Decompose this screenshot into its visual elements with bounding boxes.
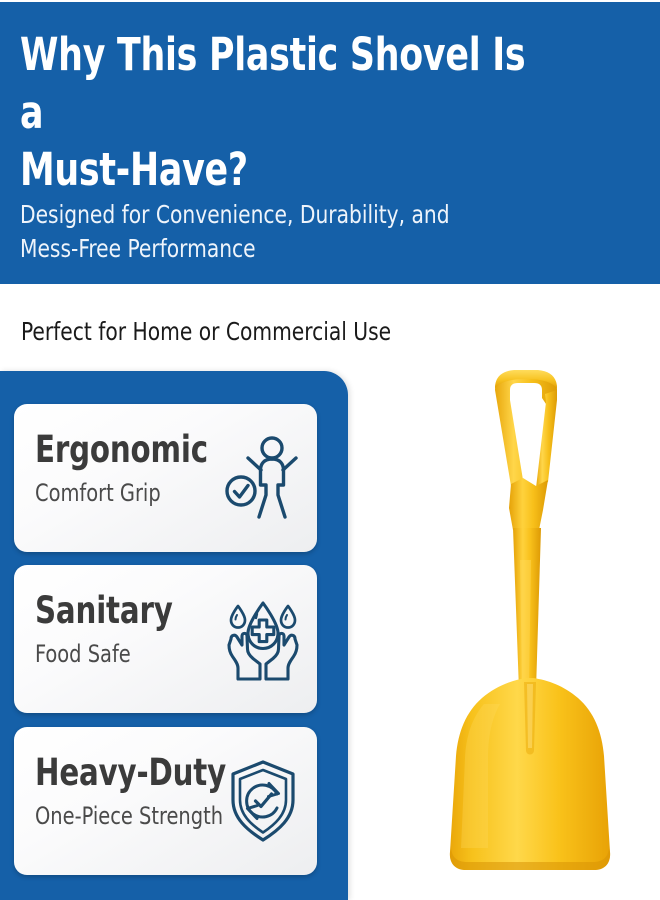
- feature-card-text: Sanitary Food Safe: [35, 592, 220, 666]
- feature-card-sanitary[interactable]: Sanitary Food Safe: [14, 565, 317, 713]
- feature-card-subtitle: One-Piece Strength: [35, 804, 202, 828]
- feature-panel: Ergonomic Comfort Grip Sanitary Food: [0, 371, 348, 900]
- product-image-shovel: [400, 360, 660, 885]
- header-banner: Why This Plastic Shovel Is a Must-Have? …: [0, 2, 660, 284]
- person-check-icon: [223, 433, 303, 523]
- shield-refresh-check-icon: [223, 756, 303, 846]
- feature-card-subtitle: Food Safe: [35, 642, 202, 666]
- page-title: Why This Plastic Shovel Is a Must-Have?: [20, 26, 536, 199]
- feature-card-subtitle: Comfort Grip: [35, 481, 202, 505]
- feature-card-title: Heavy-Duty: [35, 754, 198, 791]
- subheading: Perfect for Home or Commercial Use: [21, 317, 391, 347]
- infographic-page: Why This Plastic Shovel Is a Must-Have? …: [0, 0, 660, 900]
- feature-card-text: Ergonomic Comfort Grip: [35, 431, 220, 505]
- feature-card-ergonomic[interactable]: Ergonomic Comfort Grip: [14, 404, 317, 552]
- header-subtitle: Designed for Convenience, Durability, an…: [20, 198, 560, 266]
- feature-card-text: Heavy-Duty One-Piece Strength: [35, 754, 220, 828]
- feature-card-title: Ergonomic: [35, 431, 198, 468]
- hands-water-drop-cross-icon: [223, 594, 303, 684]
- feature-card-heavy-duty[interactable]: Heavy-Duty One-Piece Strength: [14, 727, 317, 875]
- feature-card-title: Sanitary: [35, 592, 198, 629]
